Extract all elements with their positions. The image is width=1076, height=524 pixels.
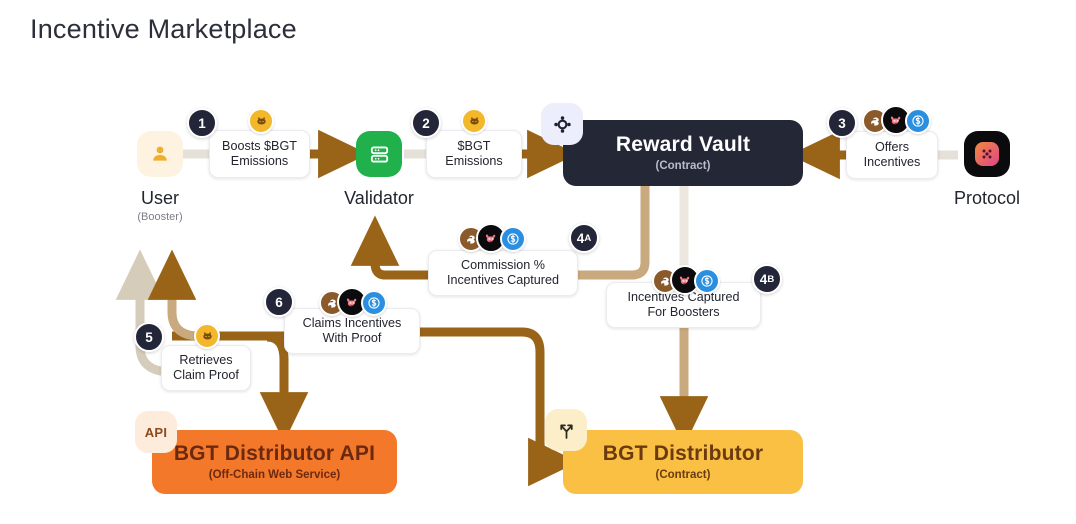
stablecoin-icon-4b bbox=[694, 268, 720, 294]
bgt-distributor-title: BGT Distributor bbox=[603, 443, 764, 465]
stablecoin-icon-4a bbox=[500, 226, 526, 252]
bgt-distributor-box[interactable]: BGT Distributor (Contract) bbox=[563, 430, 803, 494]
edge-6-to-distributor-api bbox=[267, 337, 284, 420]
bgt-coin-icon-2 bbox=[461, 108, 487, 134]
server-icon bbox=[356, 131, 402, 177]
badge-step-3: 3 bbox=[827, 108, 857, 138]
reward-vault-box[interactable]: Reward Vault (Contract) bbox=[563, 120, 803, 186]
badge-4b-num: 4 bbox=[760, 272, 768, 287]
badge-step-6: 6 bbox=[264, 287, 294, 317]
badge-5-num: 5 bbox=[145, 330, 153, 345]
callout-3-line1: Offers bbox=[875, 140, 909, 155]
callout-3-line2: Incentives bbox=[864, 155, 921, 170]
badge-6-num: 6 bbox=[275, 295, 283, 310]
callout-1-line2: Emissions bbox=[231, 154, 288, 169]
protocol-logo-icon bbox=[964, 131, 1010, 177]
edge-6-to-bgt-distributor bbox=[420, 332, 556, 462]
callout-5-line1: Retrieves bbox=[179, 353, 232, 368]
callout-4a-line2: Incentives Captured bbox=[447, 273, 559, 288]
badge-2-num: 2 bbox=[422, 116, 430, 131]
callout-4b-line2: For Boosters bbox=[647, 305, 719, 320]
badge-4b-suffix: B bbox=[767, 274, 774, 285]
callout-2-line2: Emissions bbox=[445, 154, 502, 169]
callout-step-2: $BGT Emissions bbox=[426, 130, 522, 178]
reward-vault-title: Reward Vault bbox=[616, 134, 750, 156]
node-sub-user: (Booster) bbox=[110, 211, 210, 223]
edge-6-to-user bbox=[172, 272, 200, 336]
badge-3-num: 3 bbox=[838, 116, 846, 131]
badge-1-num: 1 bbox=[198, 116, 206, 131]
stablecoin-icon-6 bbox=[361, 290, 387, 316]
callout-4a-line1: Commission % bbox=[461, 258, 545, 273]
edge-4a-to-validator bbox=[375, 238, 428, 275]
callout-step-3: Offers Incentives bbox=[846, 131, 938, 179]
callout-step-4a: Commission % Incentives Captured bbox=[428, 250, 578, 296]
badge-step-4b: 4B bbox=[752, 264, 782, 294]
badge-step-2: 2 bbox=[411, 108, 441, 138]
bgt-coin-icon-1 bbox=[248, 108, 274, 134]
bgt-distributor-api-box[interactable]: BGT Distributor API (Off-Chain Web Servi… bbox=[152, 430, 397, 494]
node-label-protocol: Protocol bbox=[927, 188, 1047, 209]
node-label-validator: Validator bbox=[319, 188, 439, 209]
callout-2-line1: $BGT bbox=[458, 139, 491, 154]
bgt-distributor-api-sub: (Off-Chain Web Service) bbox=[209, 469, 340, 481]
stablecoin-icon-3 bbox=[905, 108, 931, 134]
callout-6-line1: Claims Incentives bbox=[303, 316, 402, 331]
badge-4a-num: 4 bbox=[577, 231, 585, 246]
callout-step-1: Boosts $BGT Emissions bbox=[209, 130, 310, 178]
callout-6-line2: With Proof bbox=[323, 331, 382, 346]
badge-step-4a: 4A bbox=[569, 223, 599, 253]
callout-1-line1: Boosts $BGT bbox=[222, 139, 297, 154]
callout-5-line2: Claim Proof bbox=[173, 368, 239, 383]
diagram-canvas: Incentive Marketplace bbox=[0, 0, 1076, 524]
bgt-coin-icon-5 bbox=[194, 323, 220, 349]
bgt-distributor-api-title: BGT Distributor API bbox=[174, 443, 375, 465]
reward-vault-sub: (Contract) bbox=[656, 160, 711, 172]
split-arrow-icon bbox=[545, 409, 587, 451]
badge-4a-suffix: A bbox=[584, 233, 591, 244]
callout-step-5: Retrieves Claim Proof bbox=[161, 345, 251, 391]
vault-icon bbox=[541, 103, 583, 145]
user-icon bbox=[137, 131, 183, 177]
bgt-distributor-sub: (Contract) bbox=[656, 469, 711, 481]
node-label-user: User bbox=[110, 188, 210, 209]
badge-step-5: 5 bbox=[134, 322, 164, 352]
api-icon: API bbox=[135, 411, 177, 453]
badge-step-1: 1 bbox=[187, 108, 217, 138]
